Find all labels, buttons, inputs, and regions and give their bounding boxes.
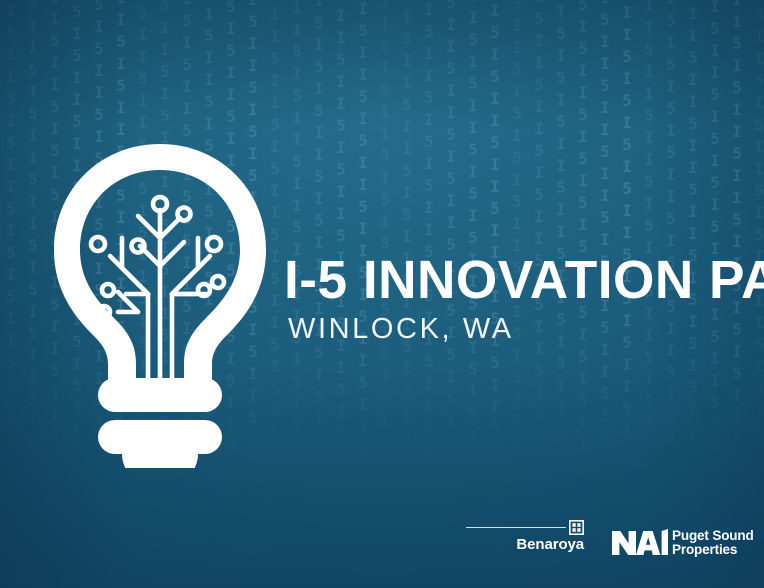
benaroya-logo[interactable]: Benaroya xyxy=(466,518,584,560)
footer-logos: Benaroya Puget Sound Properties xyxy=(0,512,764,566)
nai-monogram-icon xyxy=(612,529,668,557)
window-grid-icon xyxy=(569,520,584,535)
nai-wordmark-line1: Puget Sound xyxy=(672,529,754,544)
page-title: I-5 INNOVATION PARK xyxy=(284,252,737,308)
benaroya-wordmark: Benaroya xyxy=(516,536,584,554)
page-subtitle: WINLOCK, WA xyxy=(288,312,744,346)
nai-wordmark: Puget Sound Properties xyxy=(672,529,754,558)
nai-logo[interactable]: Puget Sound Properties xyxy=(612,528,754,558)
benaroya-rule xyxy=(466,527,566,528)
lightbulb-circuit-icon xyxy=(52,142,268,468)
nai-wordmark-line2: Properties xyxy=(672,543,754,558)
headline-block: I-5 INNOVATION PARK WINLOCK, WA xyxy=(284,252,744,346)
title-slide: I 5 I I 5 I 5 I I 5 I 5 I 5 I I 5 I 5 I … xyxy=(0,0,764,588)
